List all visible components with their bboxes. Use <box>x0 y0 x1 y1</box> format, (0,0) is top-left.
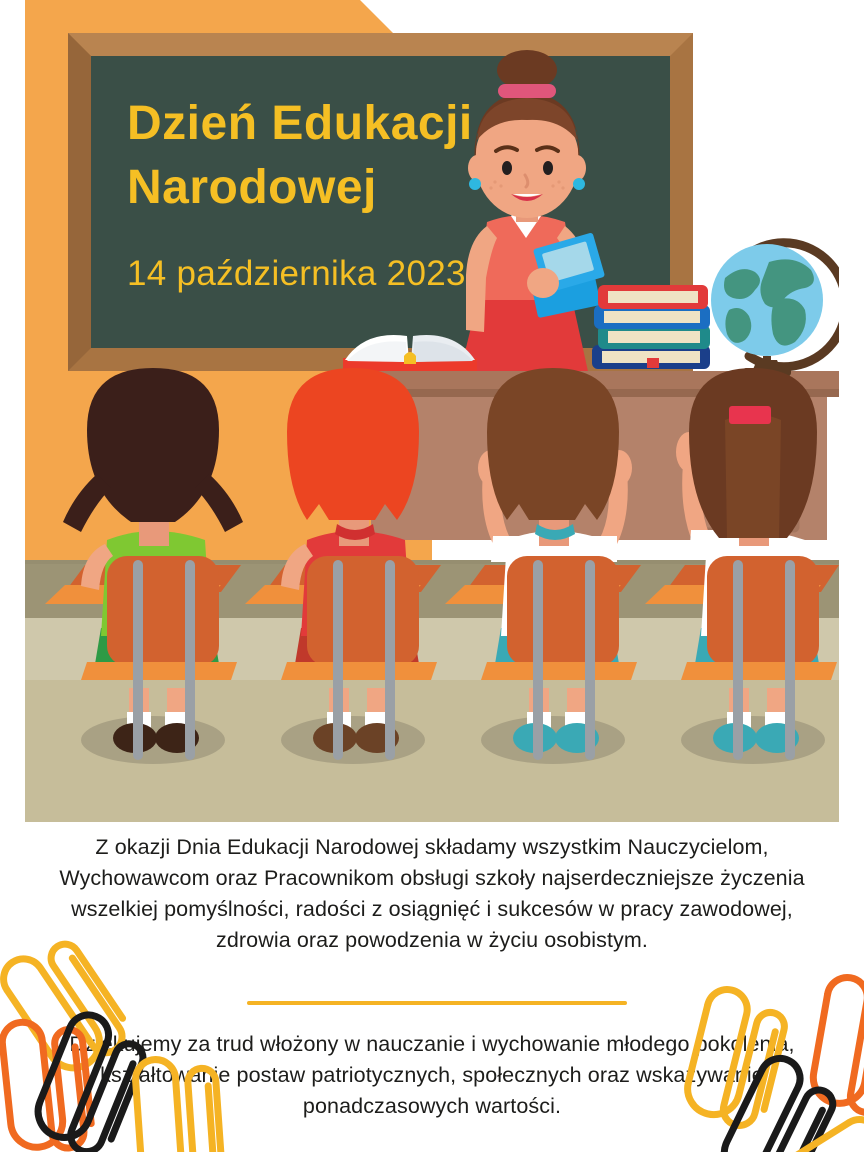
teacher-ear-right <box>568 155 586 181</box>
student-1-chair-leg-right <box>185 560 195 760</box>
teacher-hand <box>527 268 559 298</box>
book-4-mark <box>647 358 659 368</box>
student-2-chair-back <box>307 556 419 666</box>
chalkboard-frame-highlight <box>68 33 693 56</box>
greeting-paragraph-2: Dziękujemy za trud włożony w nauczanie i… <box>45 1029 819 1122</box>
student-4-chair-back <box>707 556 819 666</box>
teacher-ear-left <box>468 155 486 181</box>
teacher-earring-right <box>573 178 585 190</box>
poster-canvas: Dzień Edukacji Narodowej 14 października… <box>0 0 864 1152</box>
student-1-neck <box>139 520 169 546</box>
student-4-hair-clip <box>729 406 771 424</box>
student-3-sleeve-left <box>491 536 519 562</box>
teacher-eye-right <box>543 161 553 175</box>
classroom-illustration: Dzień Edukacji Narodowej 14 października… <box>25 0 839 822</box>
student-3-chair-back <box>507 556 619 666</box>
globe-sphere-gloss <box>711 244 823 356</box>
student-3-chair-leg-left <box>533 560 543 760</box>
student-3-chair-seat <box>481 662 637 680</box>
chalkboard-frame-shade-left <box>68 33 91 371</box>
student-4-chair-leg-left <box>733 560 743 760</box>
student-1-chair-seat <box>81 662 237 680</box>
student-3-hair <box>487 368 619 520</box>
teacher-hair-band <box>498 84 556 98</box>
student-2-chair-leg-left <box>333 560 343 760</box>
message-block: Z okazji Dnia Edukacji Narodowej składam… <box>0 822 864 1152</box>
student-1-chair-back <box>107 556 219 666</box>
student-4-chair-seat <box>681 662 837 680</box>
book-stack <box>595 288 707 368</box>
student-2-hair <box>287 368 419 520</box>
student-3-chair-leg-right <box>585 560 595 760</box>
teacher-earring-left <box>469 178 481 190</box>
section-divider <box>247 1001 627 1005</box>
title-line-1: Dzień Edukacji <box>127 97 473 150</box>
student-4-sleeve <box>689 530 719 560</box>
date-text: 14 października 2023 <box>127 254 466 293</box>
student-4-chair-leg-right <box>785 560 795 760</box>
title-line-2: Narodowej <box>127 161 377 214</box>
student-1-chair-leg-left <box>133 560 143 760</box>
student-2-chair-leg-right <box>385 560 395 760</box>
student-4-hair-strands <box>725 414 781 538</box>
globe <box>711 243 839 376</box>
student-2-chair-seat <box>281 662 437 680</box>
teacher-eye-left <box>502 161 512 175</box>
greeting-paragraph-1: Z okazji Dnia Edukacji Narodowej składam… <box>50 832 814 956</box>
